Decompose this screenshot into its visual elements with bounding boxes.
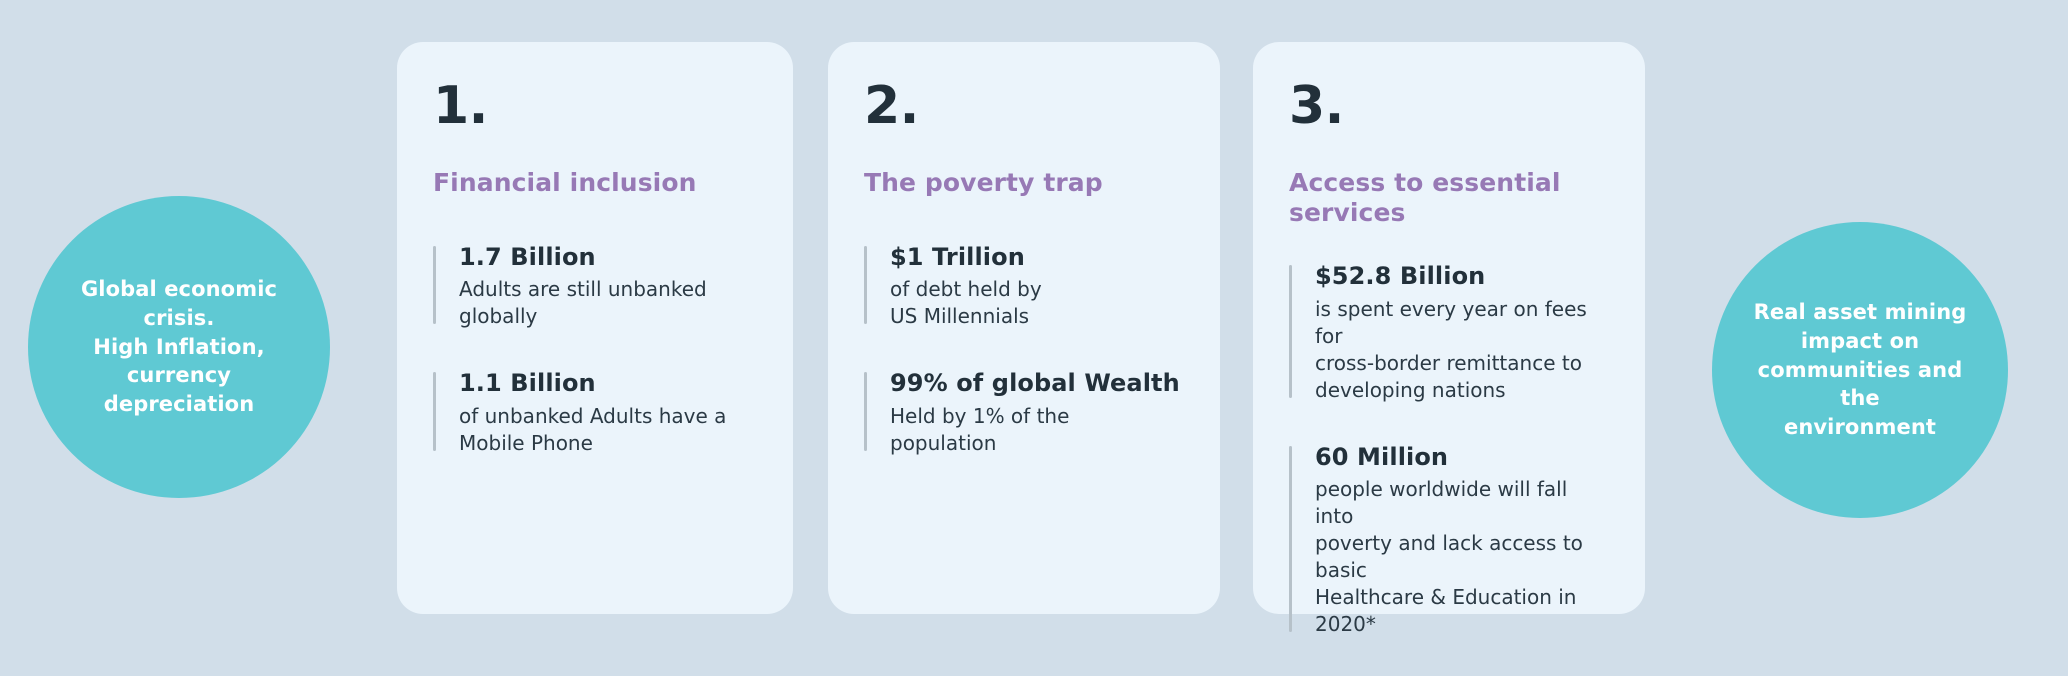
stat-block: 60 Million people worldwide will fall in…: [1289, 442, 1609, 639]
right-bubble-text: Real asset mining impact on communities …: [1712, 298, 2008, 443]
stat-block: 1.7 Billion Adults are still unbanked gl…: [433, 242, 757, 331]
infographic-canvas: Global economic crisis. High Inflation, …: [0, 0, 2068, 676]
left-bubble-text: Global economic crisis. High Inflation, …: [53, 275, 305, 420]
stat-description: people worldwide will fall into poverty …: [1315, 476, 1609, 638]
stat-value: 1.1 Billion: [459, 368, 757, 399]
card-poverty-trap: 2. The poverty trap $1 Trillion of debt …: [828, 42, 1220, 614]
stat-description: of debt held by US Millennials: [890, 276, 1184, 330]
card-3-number: 3.: [1289, 80, 1609, 132]
stat-block: $1 Trillion of debt held by US Millennia…: [864, 242, 1184, 331]
stat-value: 1.7 Billion: [459, 242, 757, 273]
left-context-bubble: Global economic crisis. High Inflation, …: [28, 196, 330, 498]
card-access-essential-services: 3. Access to essential services $52.8 Bi…: [1253, 42, 1645, 614]
card-1-title: Financial inclusion: [433, 168, 757, 198]
stat-value: $52.8 Billion: [1315, 261, 1609, 292]
stat-description: is spent every year on fees for cross-bo…: [1315, 296, 1609, 404]
card-financial-inclusion: 1. Financial inclusion 1.7 Billion Adult…: [397, 42, 793, 614]
right-context-bubble: Real asset mining impact on communities …: [1712, 222, 2008, 518]
stat-block: $52.8 Billion is spent every year on fee…: [1289, 261, 1609, 404]
stat-value: $1 Trillion: [890, 242, 1184, 273]
stat-description: of unbanked Adults have a Mobile Phone: [459, 403, 757, 457]
stat-description: Held by 1% of the population: [890, 403, 1184, 457]
stat-value: 99% of global Wealth: [890, 368, 1184, 399]
card-2-number: 2.: [864, 80, 1184, 132]
stat-block: 99% of global Wealth Held by 1% of the p…: [864, 368, 1184, 457]
stat-description: Adults are still unbanked globally: [459, 276, 757, 330]
stat-block: 1.1 Billion of unbanked Adults have a Mo…: [433, 368, 757, 457]
card-3-title: Access to essential services: [1289, 168, 1609, 227]
stat-value: 60 Million: [1315, 442, 1609, 473]
card-1-number: 1.: [433, 80, 757, 132]
card-2-title: The poverty trap: [864, 168, 1184, 198]
